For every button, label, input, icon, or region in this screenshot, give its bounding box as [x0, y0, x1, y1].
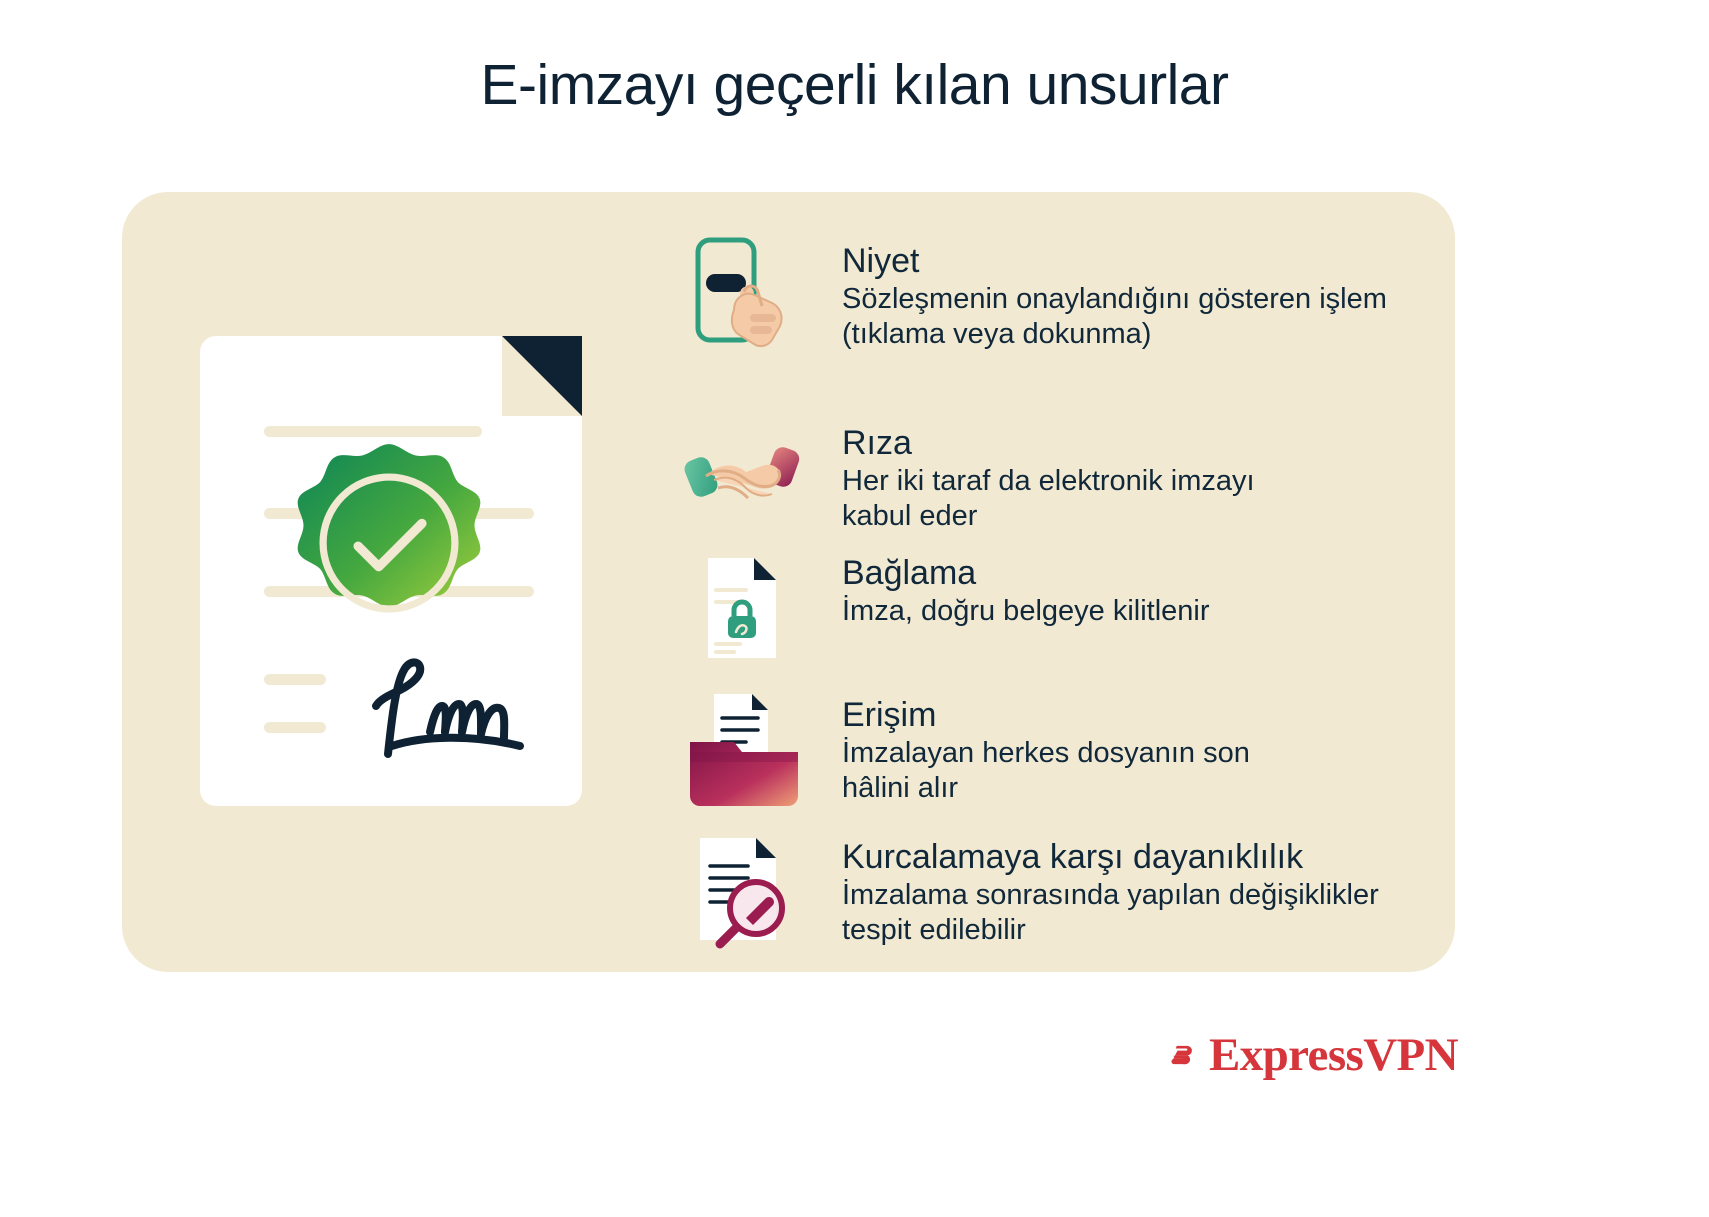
- hand-tapping-phone-icon: [684, 236, 804, 356]
- document-text-line: [264, 674, 326, 685]
- document-folded-corner-icon: [502, 336, 582, 416]
- expressvpn-logo: ExpressVPN: [1168, 1018, 1458, 1092]
- list-item-description: Her iki taraf da elektronik imzayı kabul…: [842, 464, 1255, 535]
- document-text-line: [264, 722, 326, 733]
- list-item-text: Rıza Her iki taraf da elektronik imzayı …: [804, 418, 1255, 535]
- signed-document-illustration: [200, 336, 582, 806]
- page-title: E-imzayı geçerli kılan unsurlar: [0, 54, 1709, 117]
- list-item-text: Niyet Sözleşmenin onaylandığını gösteren…: [804, 236, 1387, 353]
- verified-seal-icon: [286, 440, 492, 646]
- list-item-description: Sözleşmenin onaylandığını gösteren işlem…: [842, 282, 1387, 353]
- locked-document-icon: [684, 548, 804, 668]
- list-item-title: Rıza: [842, 424, 1255, 462]
- list-item-description: İmzalama sonrasında yapılan değişiklikle…: [842, 878, 1379, 949]
- list-item-description: İmzalayan herkes dosyanın son hâlini alı…: [842, 736, 1250, 807]
- document-text-line: [264, 426, 482, 437]
- list-item-text: Bağlama İmza, doğru belgeye kilitlenir: [804, 548, 1210, 629]
- list-item-title: Kurcalamaya karşı dayanıklılık: [842, 838, 1379, 876]
- list-item-title: Niyet: [842, 242, 1387, 280]
- list-item: Niyet Sözleşmenin onaylandığını gösteren…: [684, 236, 1444, 356]
- list-item-description: İmza, doğru belgeye kilitlenir: [842, 594, 1210, 629]
- document-folder-icon: [684, 690, 804, 810]
- list-item-text: Erişim İmzalayan herkes dosyanın son hâl…: [804, 690, 1250, 807]
- list-item: Bağlama İmza, doğru belgeye kilitlenir: [684, 548, 1444, 668]
- handwritten-signature-icon: [352, 654, 542, 759]
- list-item-title: Erişim: [842, 696, 1250, 734]
- list-item-title: Bağlama: [842, 554, 1210, 592]
- handshake-icon: [684, 418, 804, 538]
- magnifier-document-icon: [684, 832, 804, 952]
- list-item: Erişim İmzalayan herkes dosyanın son hâl…: [684, 690, 1444, 810]
- expressvpn-wordmark: ExpressVPN: [1209, 1028, 1458, 1082]
- list-item: Kurcalamaya karşı dayanıklılık İmzalama …: [684, 832, 1444, 952]
- expressvpn-e-mark-icon: [1168, 1024, 1195, 1086]
- list-item: Rıza Her iki taraf da elektronik imzayı …: [684, 418, 1444, 538]
- list-item-text: Kurcalamaya karşı dayanıklılık İmzalama …: [804, 832, 1379, 949]
